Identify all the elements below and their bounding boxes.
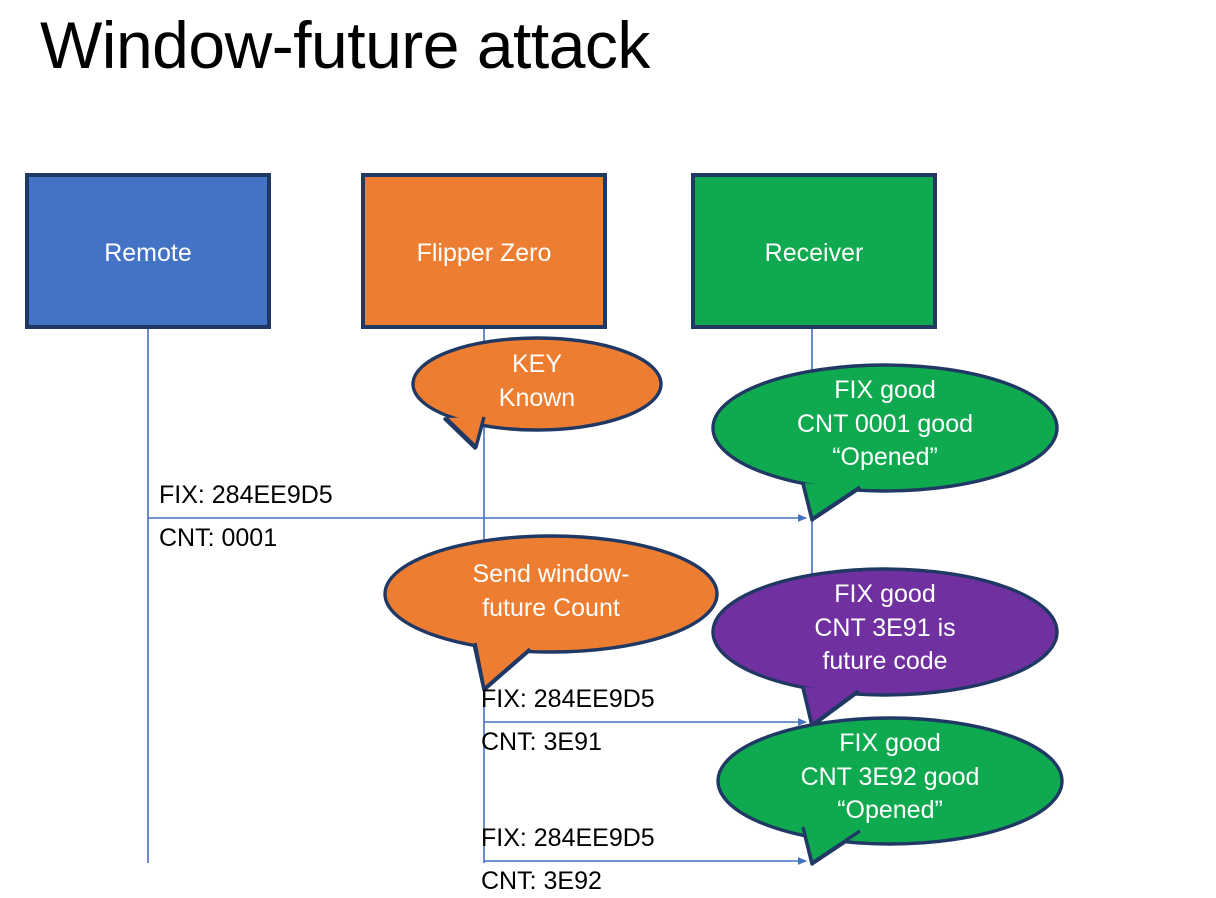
actor-label-remote: Remote xyxy=(27,238,269,268)
message-2-cnt-label: CNT: 3E91 xyxy=(481,728,602,757)
callout-line: future Count xyxy=(385,592,717,626)
message-1-cnt-label: CNT: 0001 xyxy=(159,524,277,553)
message-2-fix-label: FIX: 284EE9D5 xyxy=(481,685,655,714)
message-3-fix-label: FIX: 284EE9D5 xyxy=(481,824,655,853)
callout-line: FIX good xyxy=(718,727,1062,761)
callout-line: Send window- xyxy=(385,558,717,592)
actor-label-receiver: Receiver xyxy=(693,238,935,268)
callout-text-key-known: KEY Known xyxy=(413,348,661,415)
callout-line: CNT 3E92 good xyxy=(718,761,1062,795)
callout-text-send-window-future-count: Send window- future Count xyxy=(385,558,717,625)
callout-line: KEY xyxy=(413,348,661,382)
callout-line: future code xyxy=(713,645,1057,679)
callout-line: CNT 3E91 is xyxy=(713,612,1057,646)
callout-text-fix-good-cnt-3e91-future: FIX good CNT 3E91 is future code xyxy=(713,578,1057,679)
slide-canvas: Window-future attack xyxy=(0,0,1216,898)
callout-line: CNT 0001 good xyxy=(713,408,1057,442)
message-3-cnt-label: CNT: 3E92 xyxy=(481,867,602,896)
callout-line: Known xyxy=(413,382,661,416)
callout-line: FIX good xyxy=(713,578,1057,612)
callout-line: “Opened” xyxy=(713,441,1057,475)
actor-label-flipper: Flipper Zero xyxy=(363,238,605,268)
callout-line: “Opened” xyxy=(718,794,1062,828)
callout-line: FIX good xyxy=(713,374,1057,408)
callout-text-fix-good-cnt-3e92: FIX good CNT 3E92 good “Opened” xyxy=(718,727,1062,828)
callout-text-fix-good-cnt-0001: FIX good CNT 0001 good “Opened” xyxy=(713,374,1057,475)
message-1-fix-label: FIX: 284EE9D5 xyxy=(159,481,333,510)
